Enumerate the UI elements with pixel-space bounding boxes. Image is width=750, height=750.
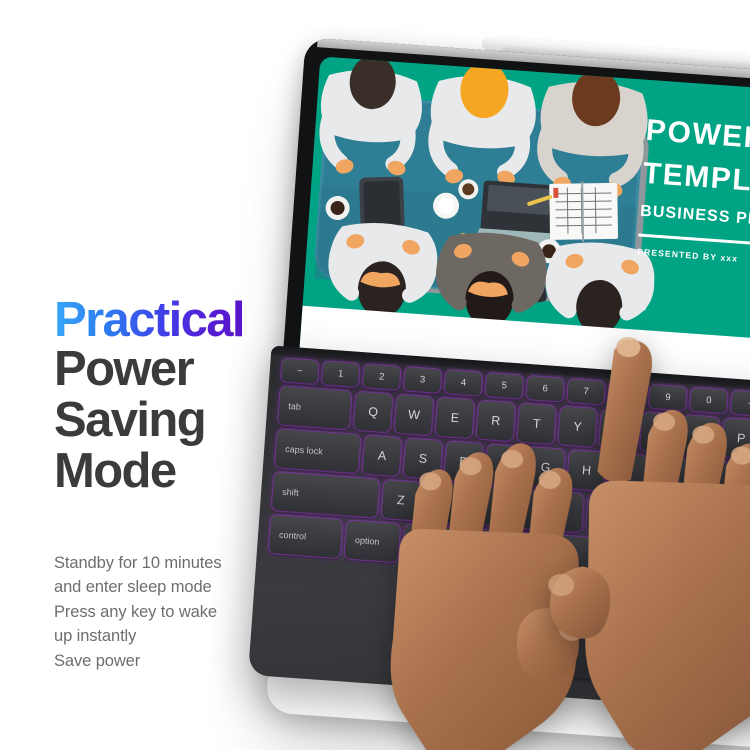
key-control[interactable]: control: [269, 515, 343, 558]
tablet-keyboard-device: POWER TEMPL BUSINESS PR PRESENTED BY xxx…: [232, 0, 750, 750]
key-tab[interactable]: tab: [278, 386, 352, 429]
key-shift[interactable]: shift: [272, 472, 379, 517]
key-4[interactable]: 4: [445, 370, 483, 396]
slide-title-line-2: TEMPL: [642, 159, 750, 207]
desk-notebook-right: [549, 181, 618, 242]
slide-title-line-1: POWER: [645, 116, 750, 164]
slide-subtitle: BUSINESS PR: [639, 203, 750, 239]
key-caps-lock[interactable]: caps lock: [275, 429, 361, 473]
slide-divider: [638, 234, 750, 248]
person-bottom-left: [326, 220, 440, 321]
key--[interactable]: ~: [281, 358, 319, 384]
key-3[interactable]: 3: [404, 367, 442, 393]
headline-accent-word: Practical: [54, 296, 246, 344]
key-2[interactable]: 2: [363, 364, 401, 390]
slide-text-block: POWER TEMPL BUSINESS PR PRESENTED BY xxx: [637, 116, 750, 274]
key-5[interactable]: 5: [486, 373, 524, 399]
key-1[interactable]: 1: [322, 361, 360, 387]
right-hand-typing: [533, 332, 750, 750]
promo-page: Practical Power Saving Mode Standby for …: [0, 0, 750, 750]
